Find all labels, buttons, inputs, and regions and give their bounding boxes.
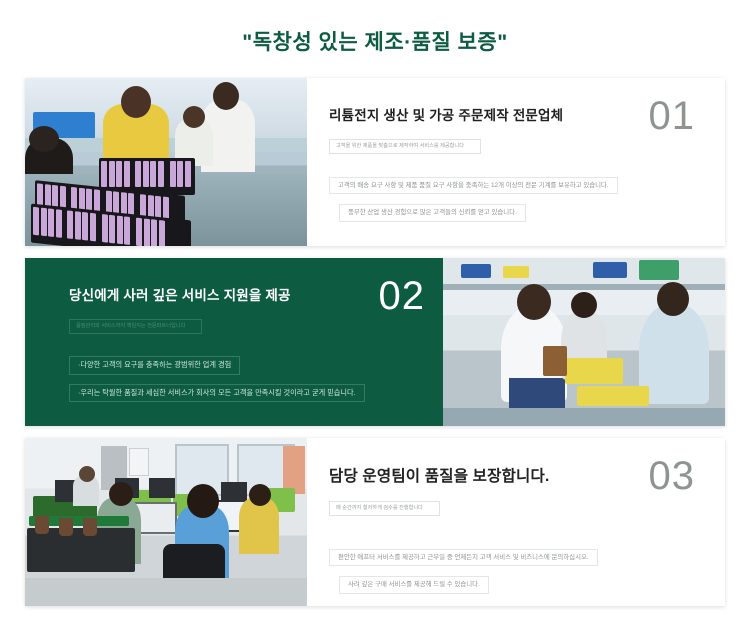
feature-block-1: 리튬전지 생산 및 가공 주문제작 전문업체 고객을 위한 제품을 맞춤으로 제… <box>25 78 725 246</box>
block-2-bullet-2: ·우리는 탁월한 품질과 세심한 서비스가 회사의 모든 고객을 만족시킬 것이… <box>69 384 365 403</box>
page-title: "독창성 있는 제조·품질 보증" <box>0 0 750 78</box>
feature-block-2-content: 당신에게 사러 깊은 서비스 지원을 제공 품질관리와 서비스까지 책임지는 전… <box>25 258 443 426</box>
office-team-photo <box>25 438 307 606</box>
packing-workshop-photo <box>443 258 725 426</box>
block-3-bullet-2: 사려 깊은 구매 서비스를 제공해 드릴 수 있습니다. <box>339 576 489 594</box>
feature-block-3-content: 담당 운영팀이 품질을 보장합니다. 매 순간까지 철저하게 검수를 진행합니다… <box>307 438 725 606</box>
lithium-battery-production-line-photo <box>25 78 307 246</box>
block-1-number: 01 <box>649 96 696 136</box>
block-3-number: 03 <box>649 456 696 496</box>
block-2-headline: 당신에게 사러 깊은 서비스 지원을 제공 <box>69 284 423 304</box>
block-2-number: 02 <box>379 276 426 316</box>
block-2-subtitle: 품질관리와 서비스까지 책임지는 전문파트너입니다 <box>69 319 202 334</box>
block-3-bullet-1: 편안한 애프터 서비스를 제공하고 근무일 중 언제든지 고객 서비스 및 비즈… <box>329 549 598 567</box>
block-1-bullet-2: 풍부한 산업 생산 경험으로 많은 고객들의 신뢰를 얻고 있습니다. <box>339 204 526 222</box>
block-1-subtitle: 고객을 위한 제품을 맞춤으로 제작하여 서비스를 제공합니다 <box>329 139 481 154</box>
feature-block-1-content: 리튬전지 생산 및 가공 주문제작 전문업체 고객을 위한 제품을 맞춤으로 제… <box>307 78 725 246</box>
block-1-bullets: 고객의 배송 요구 사항 및 제품 품질 요구 사항을 충족하는 12개 이상의… <box>329 174 705 229</box>
block-1-bullet-1: 고객의 배송 요구 사항 및 제품 품질 요구 사항을 충족하는 12개 이상의… <box>329 177 618 195</box>
block-3-bullets: 편안한 애프터 서비스를 제공하고 근무일 중 언제든지 고객 서비스 및 비즈… <box>329 546 705 601</box>
feature-block-2: 당신에게 사러 깊은 서비스 지원을 제공 품질관리와 서비스까지 책임지는 전… <box>25 258 725 426</box>
block-3-subtitle: 매 순간까지 철저하게 검수를 진행합니다 <box>329 501 440 516</box>
feature-block-3: 담당 운영팀이 품질을 보장합니다. 매 순간까지 철저하게 검수를 진행합니다… <box>25 438 725 606</box>
block-2-bullets: ·다양한 고객의 요구를 충족하는 광범위한 업계 경험 ·우리는 탁월한 품질… <box>69 354 423 410</box>
block-2-bullet-1: ·다양한 고객의 요구를 충족하는 광범위한 업계 경험 <box>69 356 240 375</box>
